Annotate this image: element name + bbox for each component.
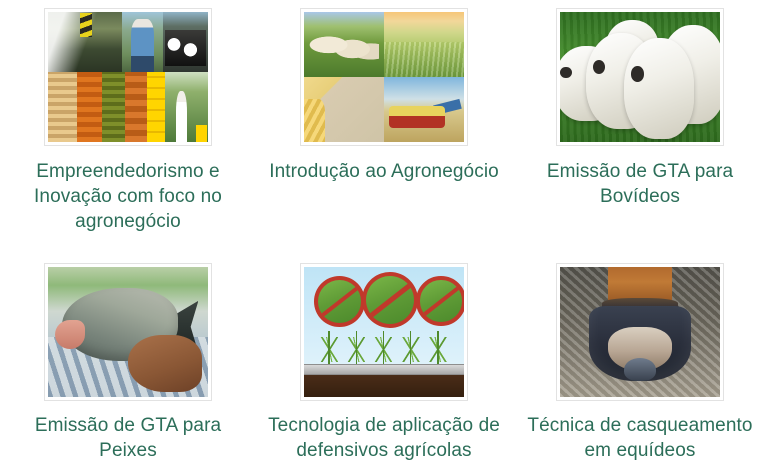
- course-card-casqueamento-equideos[interactable]: Técnica de casqueamento em equídeos: [512, 240, 768, 471]
- course-grid: Empreendedorismo e Inovação com foco no …: [0, 0, 768, 471]
- course-card-tecnologia-defensivos[interactable]: Tecnologia de aplicação de defensivos ag…: [256, 240, 512, 471]
- no-pest-icon: [314, 276, 365, 327]
- pesticide-application-illustration-image: [304, 267, 464, 397]
- no-disease-icon: [416, 276, 464, 326]
- tambaqui-fish-in-hand-image: [48, 267, 208, 397]
- no-weed-icon: [362, 272, 418, 328]
- course-card-empreendedorismo[interactable]: Empreendedorismo e Inovação com foco no …: [0, 0, 256, 240]
- course-thumbnail-frame[interactable]: [300, 8, 468, 146]
- course-title[interactable]: Introdução ao Agronegócio: [266, 159, 502, 184]
- course-title[interactable]: Emissão de GTA para Peixes: [10, 413, 246, 463]
- nelore-cattle-herd-image: [560, 12, 720, 142]
- course-thumbnail-frame[interactable]: [44, 8, 212, 146]
- agribusiness-innovation-collage-image: [48, 12, 208, 142]
- course-thumbnail-frame[interactable]: [300, 263, 468, 401]
- course-thumbnail-frame[interactable]: [556, 8, 724, 146]
- course-card-introducao-agronegocio[interactable]: Introdução ao Agronegócio: [256, 0, 512, 240]
- course-title[interactable]: Emissão de GTA para Bovídeos: [522, 159, 758, 209]
- course-card-gta-bovideos[interactable]: Emissão de GTA para Bovídeos: [512, 0, 768, 240]
- agribusiness-overview-collage-image: [304, 12, 464, 142]
- course-title[interactable]: Tecnologia de aplicação de defensivos ag…: [266, 413, 502, 463]
- course-card-gta-peixes[interactable]: Emissão de GTA para Peixes: [0, 240, 256, 471]
- course-title[interactable]: Empreendedorismo e Inovação com foco no …: [10, 159, 246, 234]
- course-title[interactable]: Técnica de casqueamento em equídeos: [522, 413, 758, 463]
- course-thumbnail-frame[interactable]: [44, 263, 212, 401]
- horse-hoof-closeup-image: [560, 267, 720, 397]
- course-thumbnail-frame[interactable]: [556, 263, 724, 401]
